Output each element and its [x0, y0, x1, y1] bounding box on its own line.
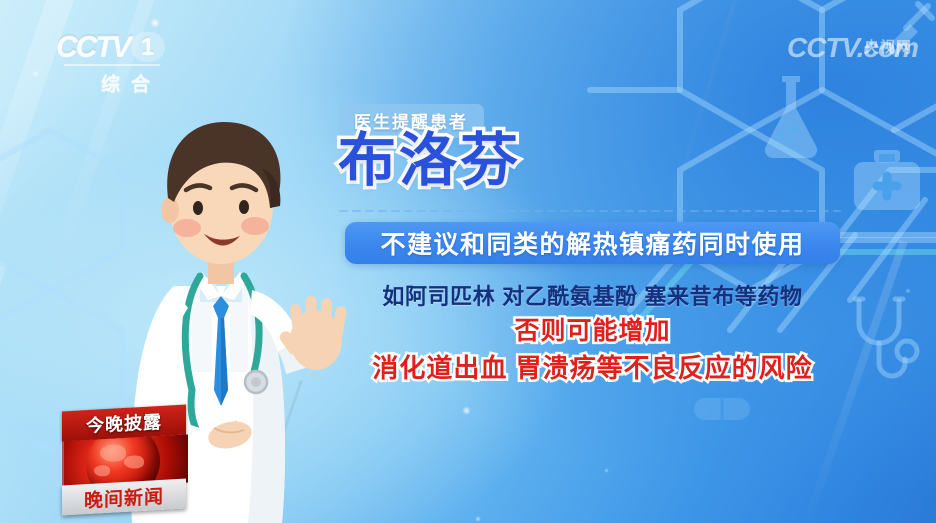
warning-line-2: 消化道出血 胃溃疡等不良反应的风险 [345, 348, 840, 385]
globe-landmass [94, 465, 110, 477]
watermark-cn-label: 央视网 [864, 36, 912, 57]
advice-banner-text: 不建议和同类的解热镇痛药同时使用 [380, 225, 804, 261]
channel-number: 1 [131, 32, 165, 62]
cctv-text: CCTV [56, 30, 130, 63]
medical-case-icon [852, 148, 922, 212]
cctv1-channel-logo: CCTV1 综合 [56, 32, 206, 92]
news-program-bug: 今晚披露 晚间新闻 [58, 408, 190, 512]
logo-divider [64, 64, 160, 66]
drug-examples-line: 如阿司匹林 对乙酰氨基酚 塞来昔布等药物 [345, 279, 840, 311]
bug-bottom-label: 晚间新闻 [62, 479, 186, 516]
dashed-accent-line [330, 206, 850, 216]
warning-line-1: 否则可能增加 [345, 311, 840, 347]
page-title: 布洛芬 [338, 131, 521, 191]
cctv-wordmark: CCTV1 [56, 32, 206, 62]
globe-landmass [100, 444, 126, 462]
stethoscope-icon [845, 295, 925, 391]
advice-banner: 不建议和同类的解热镇痛药同时使用 [345, 222, 840, 264]
capsule-icon [690, 386, 754, 430]
flask-icon [752, 72, 830, 164]
cctv-com-watermark: 央视网 CCTV.com [787, 34, 918, 62]
broadcast-frame: CCTV1 综合 央视网 CCTV.com [0, 0, 936, 523]
globe-landmass [124, 455, 144, 469]
